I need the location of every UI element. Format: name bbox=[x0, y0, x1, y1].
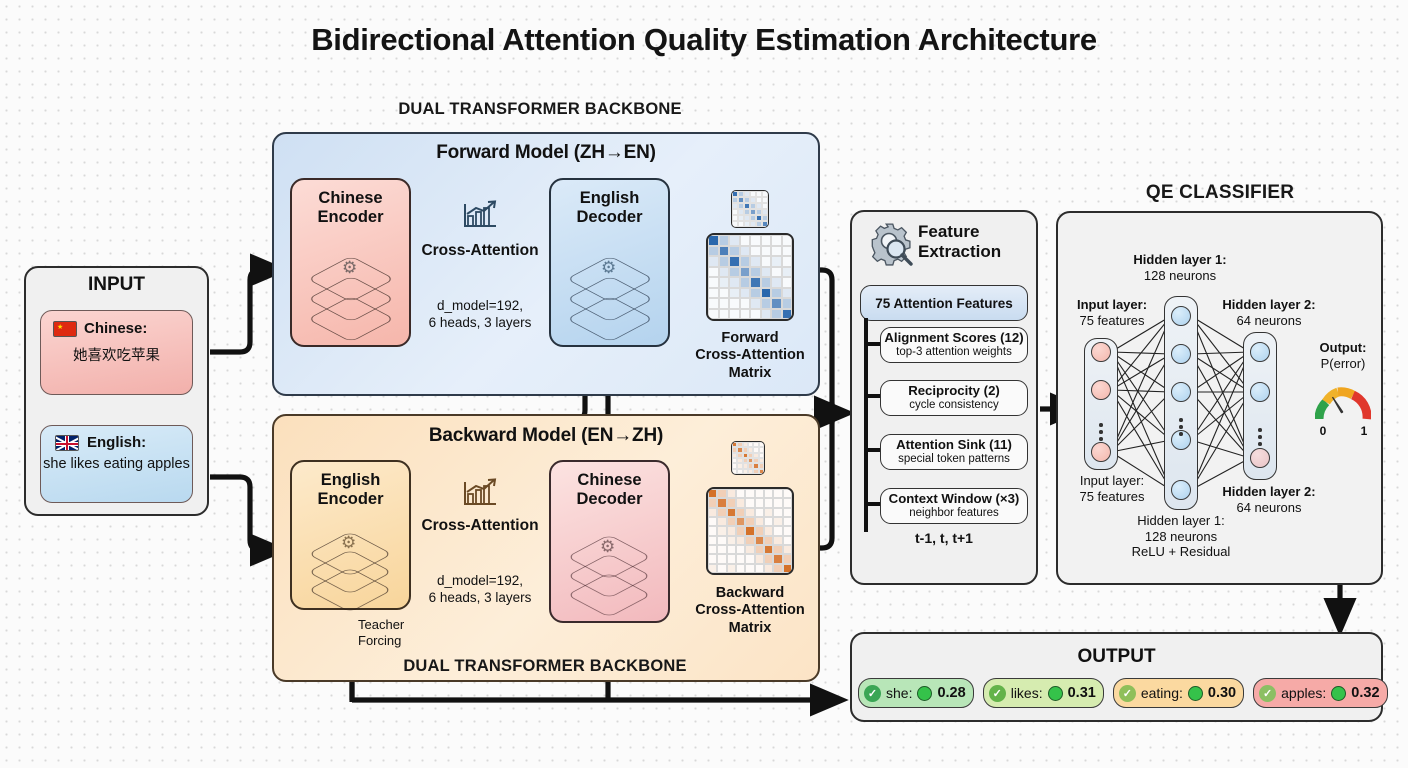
nn-node bbox=[1171, 480, 1191, 500]
output-token[interactable]: ✓likes:0.31 bbox=[983, 678, 1104, 708]
output-token-value: 0.31 bbox=[1068, 685, 1096, 701]
check-icon: ✓ bbox=[1259, 685, 1276, 702]
nn-node bbox=[1091, 442, 1111, 462]
output-token-label: eating: bbox=[1141, 685, 1183, 701]
output-token[interactable]: ✓eating:0.30 bbox=[1113, 678, 1244, 708]
nn-ellipsis bbox=[1258, 428, 1262, 446]
qe-output-label-1: Output: bbox=[1320, 340, 1367, 355]
check-icon: ✓ bbox=[989, 685, 1006, 702]
nn-ellipsis bbox=[1179, 418, 1183, 436]
nn-node bbox=[1250, 342, 1270, 362]
nn-node bbox=[1091, 342, 1111, 362]
nn-node bbox=[1091, 380, 1111, 400]
output-token-label: apples: bbox=[1281, 685, 1326, 701]
nn-node bbox=[1250, 448, 1270, 468]
output-token-value: 0.28 bbox=[937, 685, 965, 701]
output-token-value: 0.30 bbox=[1208, 685, 1236, 701]
output-token-dot bbox=[1048, 686, 1063, 701]
check-icon: ✓ bbox=[864, 685, 881, 702]
probability-gauge bbox=[1315, 385, 1371, 425]
output-panel-title: OUTPUT bbox=[850, 646, 1383, 668]
output-token-label: likes: bbox=[1011, 685, 1043, 701]
nn-node bbox=[1171, 306, 1191, 326]
output-token[interactable]: ✓apples:0.32 bbox=[1253, 678, 1387, 708]
output-token-dot bbox=[1188, 686, 1203, 701]
output-token-dot bbox=[917, 686, 932, 701]
nn-node bbox=[1171, 344, 1191, 364]
gauge-max-label: 1 bbox=[1358, 424, 1370, 438]
output-token-label: she: bbox=[886, 685, 912, 701]
output-token-list: ✓she:0.28✓likes:0.31✓eating:0.30✓apples:… bbox=[858, 678, 1376, 712]
nn-node bbox=[1171, 382, 1191, 402]
output-token-dot bbox=[1331, 686, 1346, 701]
qe-output-label-2: P(error) bbox=[1300, 356, 1386, 372]
gauge-min-label: 0 bbox=[1317, 424, 1329, 438]
nn-node bbox=[1250, 382, 1270, 402]
check-icon: ✓ bbox=[1119, 685, 1136, 702]
output-token-value: 0.32 bbox=[1351, 685, 1379, 701]
output-token[interactable]: ✓she:0.28 bbox=[858, 678, 974, 708]
nn-ellipsis bbox=[1099, 423, 1103, 441]
